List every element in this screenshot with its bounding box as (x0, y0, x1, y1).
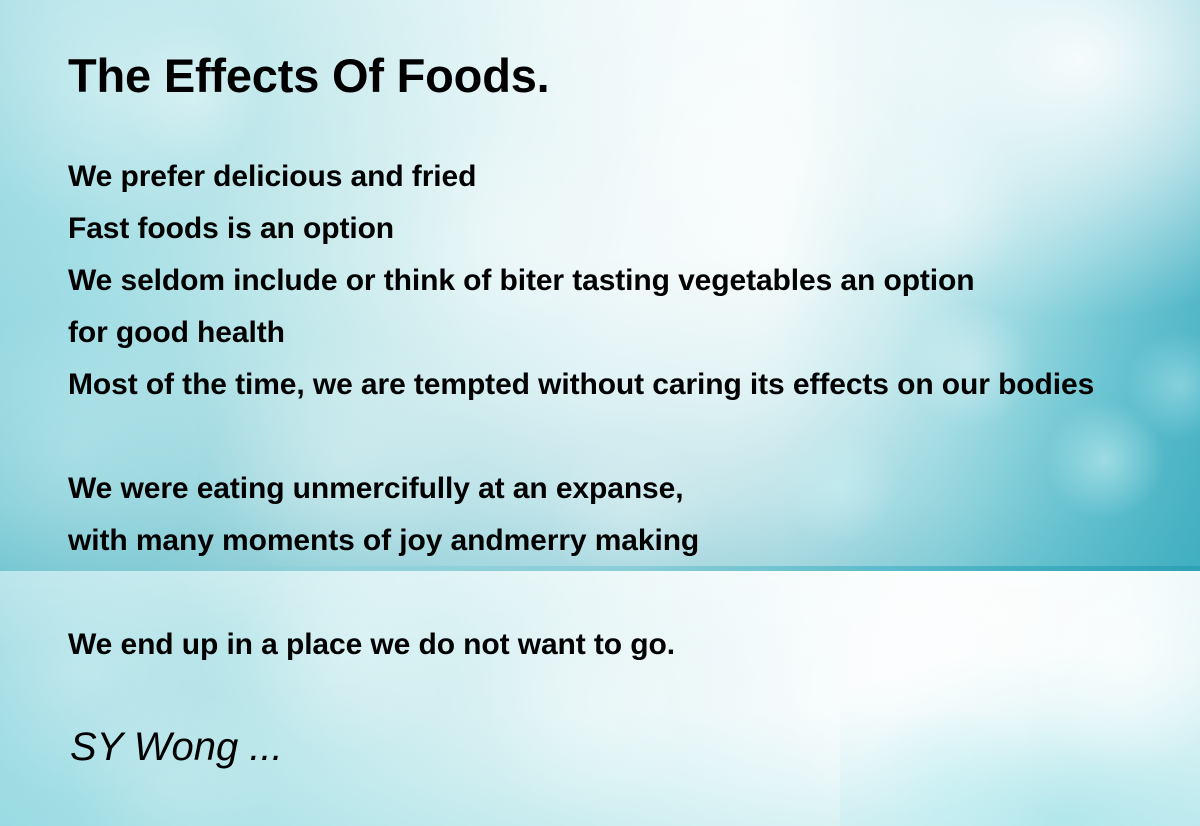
poem-line: Most of the time, we are tempted without… (68, 370, 1094, 400)
poem-line: with many moments of joy andmerry making (68, 526, 699, 556)
poem-card: The Effects Of Foods. We prefer deliciou… (0, 0, 1200, 826)
poem-line: for good health (68, 318, 285, 348)
poem-line: Fast foods is an option (68, 214, 394, 244)
poem-line: We seldom include or think of biter tast… (68, 266, 975, 296)
poem-title: The Effects Of Foods. (68, 48, 550, 103)
poem-text-layer: The Effects Of Foods. We prefer deliciou… (0, 0, 1200, 826)
poem-line: We were eating unmercifully at an expans… (68, 474, 683, 504)
poem-line: We prefer delicious and fried (68, 162, 476, 192)
poem-signature: SY Wong ... (70, 725, 283, 770)
poem-line: We end up in a place we do not want to g… (68, 630, 675, 660)
